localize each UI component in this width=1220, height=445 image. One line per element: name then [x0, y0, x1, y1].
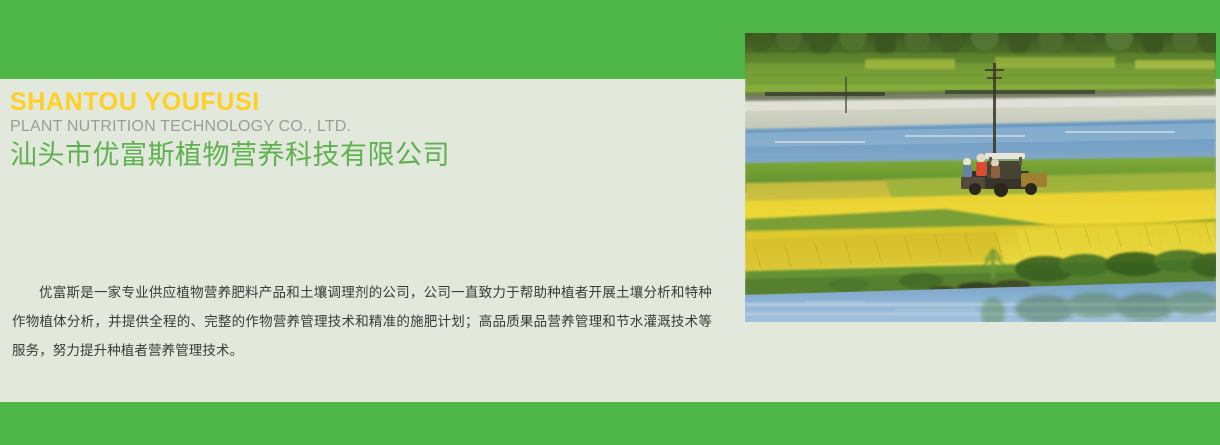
bottom-green-band: [0, 402, 1220, 445]
company-intro-page: SHANTOU YOUFUSI PLANT NUTRITION TECHNOLO…: [0, 0, 1220, 445]
brand-name-chinese: 汕头市优富斯植物营养科技有限公司: [10, 137, 710, 173]
brand-name-english-main: SHANTOU YOUFUSI: [10, 88, 710, 116]
brand-block: SHANTOU YOUFUSI PLANT NUTRITION TECHNOLO…: [10, 88, 710, 173]
photo-illustration: [745, 33, 1216, 322]
rice-paddy-harvest-photo: [745, 33, 1216, 322]
company-intro-paragraph: 优富斯是一家专业供应植物营养肥料产品和土壤调理剂的公司，公司一直致力于帮助种植者…: [12, 278, 712, 365]
brand-name-english-sub: PLANT NUTRITION TECHNOLOGY CO., LTD.: [10, 116, 710, 137]
